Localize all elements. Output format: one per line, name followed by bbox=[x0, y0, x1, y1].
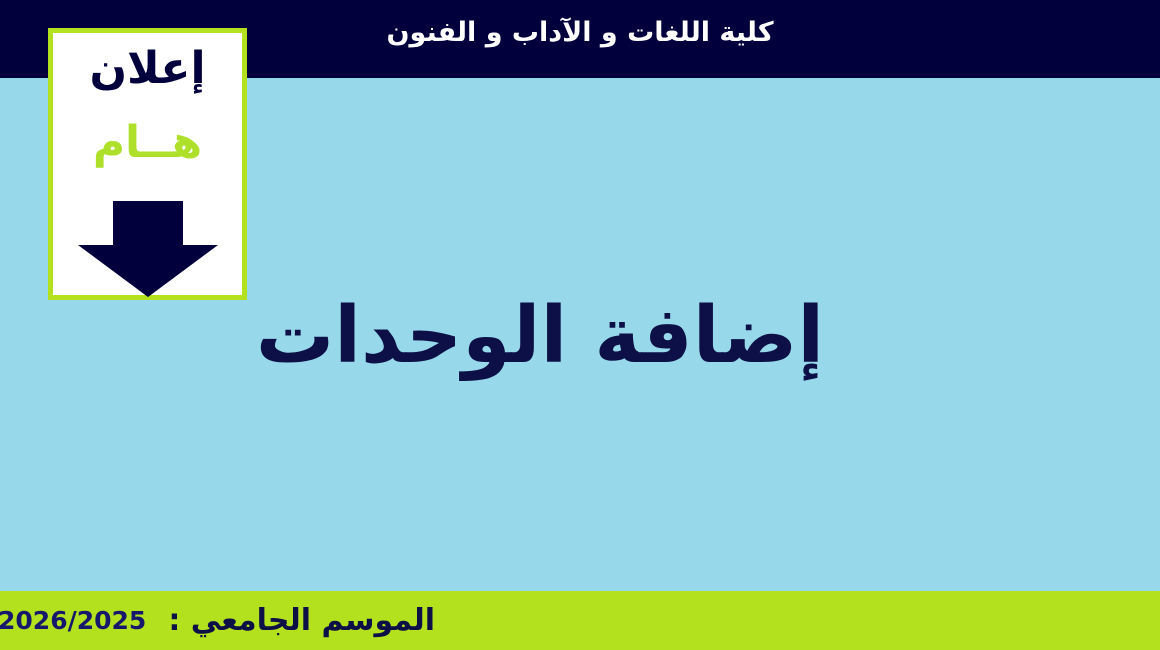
academic-year-group: الموسم الجامعي : 2026/2025 bbox=[0, 591, 435, 650]
academic-year-value: 2026/2025 bbox=[0, 608, 146, 633]
announcement-card: إعلان هــام bbox=[48, 28, 247, 300]
academic-year-label: الموسم الجامعي : bbox=[168, 606, 435, 636]
announcement-label-primary: إعلان bbox=[53, 47, 242, 91]
page-title: إضافة الوحدات bbox=[0, 288, 1080, 386]
arrow-down-icon bbox=[78, 201, 218, 297]
faculty-name-heading: كلية اللغات و الآداب و الفنون bbox=[250, 17, 910, 48]
announcement-label-secondary: هــام bbox=[53, 121, 242, 165]
footer-bar: الموسم الجامعي : 2026/2025 bbox=[0, 591, 1160, 650]
announcement-slide: كلية اللغات و الآداب و الفنون إعلان هــا… bbox=[0, 0, 1160, 650]
